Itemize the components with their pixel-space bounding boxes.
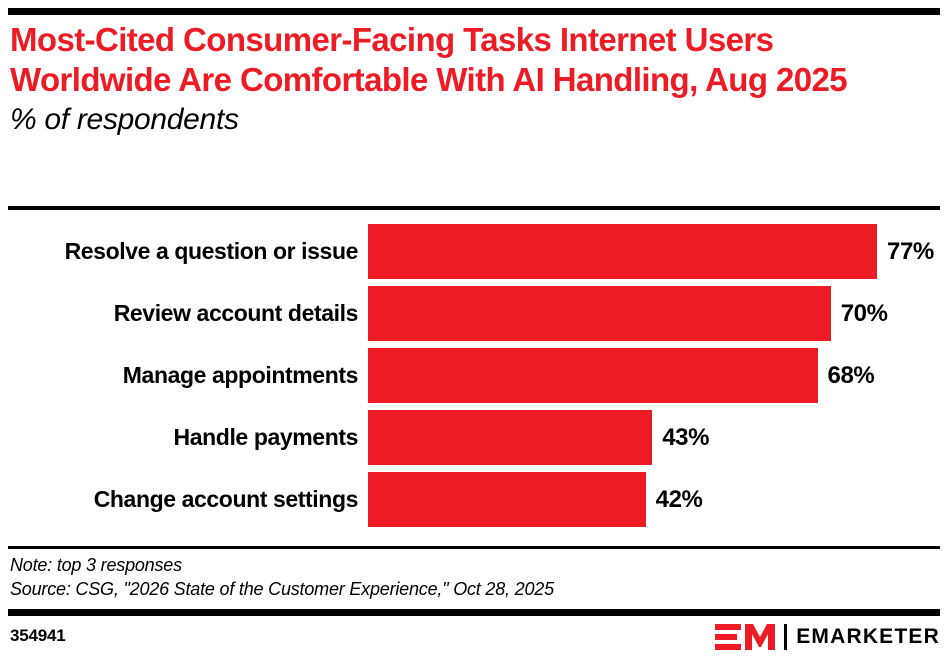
bar-track: 77% xyxy=(368,224,948,279)
bar-track: 43% xyxy=(368,410,948,465)
bar-track: 68% xyxy=(368,348,948,403)
chart-subtitle: % of respondents xyxy=(10,102,938,138)
bar xyxy=(368,348,818,403)
top-rule xyxy=(8,8,940,15)
source-text: Source: CSG, "2026 State of the Customer… xyxy=(10,577,938,601)
bar-value-label: 43% xyxy=(662,424,709,452)
chart-page: Most-Cited Consumer-Facing Tasks Interne… xyxy=(0,0,948,660)
bar xyxy=(368,410,652,465)
bar-category-label: Manage appointments xyxy=(0,348,358,403)
chart-id: 354941 xyxy=(10,626,66,646)
emarketer-logo: EMARKETER xyxy=(715,622,940,652)
bar-row: Review account details70% xyxy=(0,286,948,341)
em-logo-icon xyxy=(715,623,777,651)
bar-category-label: Handle payments xyxy=(0,410,358,465)
bar-category-label: Resolve a question or issue xyxy=(0,224,358,279)
bar-value-label: 77% xyxy=(887,238,934,266)
chart-title: Most-Cited Consumer-Facing Tasks Interne… xyxy=(10,20,938,100)
bar-value-label: 68% xyxy=(828,362,875,390)
bar-row: Resolve a question or issue77% xyxy=(0,224,948,279)
footer-rule xyxy=(8,609,940,616)
bar xyxy=(368,472,646,527)
header-divider xyxy=(8,206,940,210)
bar-value-label: 70% xyxy=(841,300,888,328)
bar xyxy=(368,286,831,341)
chart-header: Most-Cited Consumer-Facing Tasks Interne… xyxy=(10,20,938,138)
bar-track: 42% xyxy=(368,472,948,527)
bar-value-label: 42% xyxy=(656,486,703,514)
brand-divider xyxy=(784,624,787,650)
bar-row: Change account settings42% xyxy=(0,472,948,527)
bar-chart-plot: Resolve a question or issue77%Review acc… xyxy=(0,224,948,532)
bar-category-label: Change account settings xyxy=(0,472,358,527)
note-text: Note: top 3 responses xyxy=(10,553,938,577)
bar-row: Handle payments43% xyxy=(0,410,948,465)
bar-track: 70% xyxy=(368,286,948,341)
brand-name: EMARKETER xyxy=(796,625,940,649)
bar-row: Manage appointments68% xyxy=(0,348,948,403)
chart-footer: 354941 EMARKETER xyxy=(0,620,948,656)
bar xyxy=(368,224,877,279)
bar-category-label: Review account details xyxy=(0,286,358,341)
chart-notes: Note: top 3 responses Source: CSG, "2026… xyxy=(10,553,938,601)
plot-divider xyxy=(8,546,940,549)
